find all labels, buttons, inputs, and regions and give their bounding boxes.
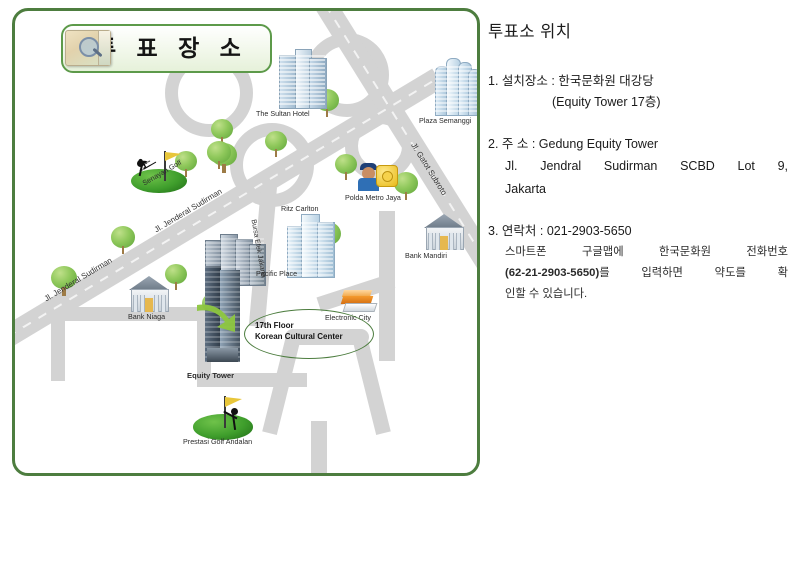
prestasi-golf-andalan-icon [193, 396, 253, 440]
map-label-plaza-semanggi: Plaza Semanggi [419, 116, 471, 125]
tree-icon [207, 141, 231, 169]
bank-niaga-icon [127, 276, 171, 312]
korean-cultural-center-label: 17th Floor Korean Cultural Center [255, 320, 373, 342]
info-item-venue: 1. 설치장소 : 한국문화원 대강당 (Equity Tower 17층) [488, 72, 788, 113]
info-item-venue-line1: 1. 설치장소 : 한국문화원 대강당 [488, 72, 788, 91]
map-label-the-sultan-hotel: The Sultan Hotel [256, 109, 310, 118]
info-item-address-line3: Jakarta [505, 179, 788, 200]
info-item-venue-line2: (Equity Tower 17층) [552, 91, 788, 113]
info-panel: 투표소 위치 1. 설치장소 : 한국문화원 대강당 (Equity Tower… [488, 18, 788, 326]
police-officer-icon [354, 159, 400, 191]
map-label-prestasi-golf-andalan: Prestasi Golf Andalan [183, 437, 252, 446]
map-label-bank-mandiri: Bank Mandiri [405, 251, 447, 260]
map-canvas: The Sultan Hotel Plaza Semanggi Polda Me… [15, 11, 477, 473]
ritz-carlton-icon [287, 214, 335, 276]
map-card: The Sultan Hotel Plaza Semanggi Polda Me… [12, 8, 480, 476]
info-item-address-line2: Jl. Jendral Sudirman SCBD Lot 9, [505, 156, 788, 177]
info-item-address: 2. 주 소 : Gedung Equity Tower Jl. Jendral… [488, 135, 788, 200]
info-item-contact-note-1: 스마트폰 구글맵에 한국문화원 전화번호 [505, 243, 788, 262]
highlight-line-1: 17th Floor [255, 320, 373, 331]
the-sultan-hotel-icon [279, 49, 327, 107]
contact-note-tail: 를 입력하면 약도를 확 [599, 267, 788, 279]
bank-mandiri-icon [422, 214, 466, 250]
tree-icon [265, 131, 287, 157]
map-label-polda-metro-jaya: Polda Metro Jaya [345, 193, 401, 202]
info-item-contact-note-3: 인할 수 있습니다. [505, 285, 788, 304]
map-label-bank-niaga: Bank Niaga [128, 312, 165, 321]
highlight-arrow-icon [195, 301, 241, 335]
map-label-ritz-carlton: Ritz Carlton [281, 204, 319, 213]
info-item-contact-line1: 3. 연락처 : 021-2903-5650 [488, 222, 788, 241]
road-south-stem [311, 421, 327, 476]
highlight-line-2: Korean Cultural Center [255, 331, 373, 342]
road-west-loop-vertical [51, 311, 65, 381]
map-label-equity-tower: Equity Tower [187, 371, 234, 380]
map-title-text: 투 표 장 소 [95, 29, 265, 63]
info-item-contact: 3. 연락처 : 021-2903-5650 스마트폰 구글맵에 한국문화원 전… [488, 222, 788, 304]
info-item-address-line1: 2. 주 소 : Gedung Equity Tower [488, 135, 788, 154]
map-magnifier-icon [65, 30, 111, 66]
info-item-contact-note-2: (62-21-2903-5650)를 입력하면 약도를 확 [505, 264, 788, 283]
electronic-city-icon [342, 288, 374, 312]
plaza-semanggi-icon [434, 56, 480, 114]
tree-icon [111, 226, 135, 254]
contact-alt-phone: (62-21-2903-5650) [505, 267, 599, 279]
page-title: 투표소 위치 [488, 18, 788, 42]
